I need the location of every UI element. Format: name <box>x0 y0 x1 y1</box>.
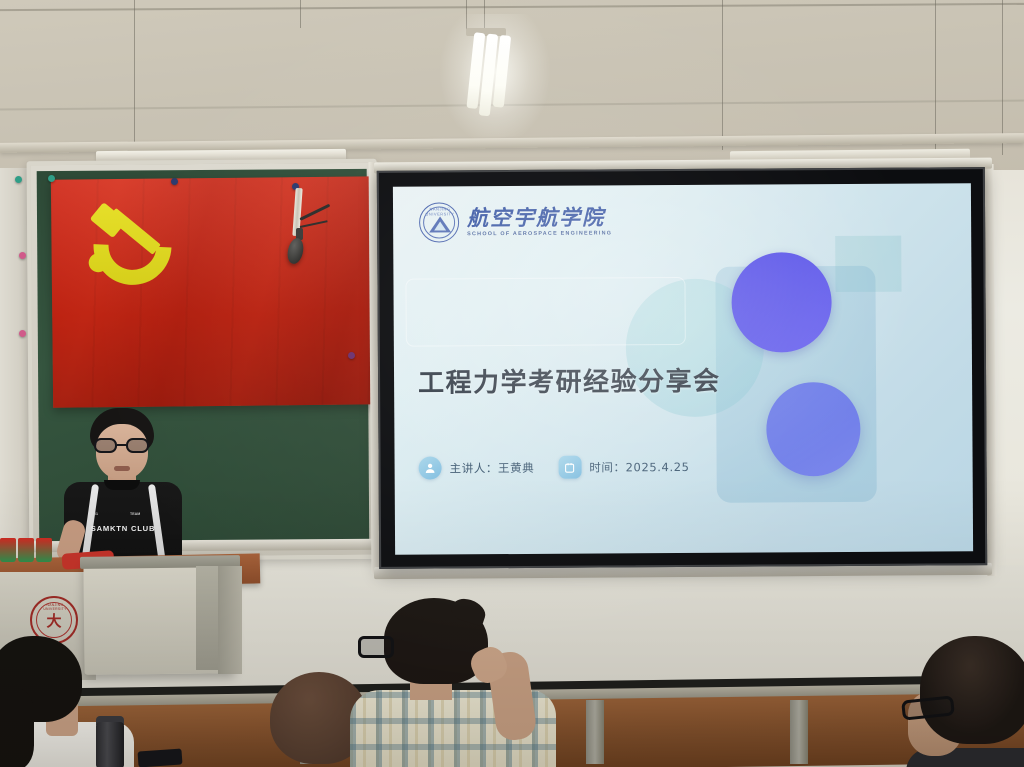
flag-magnet <box>19 252 26 259</box>
flag-magnet <box>19 330 26 337</box>
communist-party-flag <box>51 176 383 407</box>
eyeglasses-icon <box>358 636 394 658</box>
ceiling-wire <box>935 0 936 152</box>
hair-strand <box>0 688 34 767</box>
slide-meta-presenter: 主讲人：王黄典 <box>419 456 535 480</box>
presentation-slide[interactable]: NANJING UNIVERSITY 航空宇航学院 SCHOOL OF AERO… <box>393 183 973 555</box>
flag-magnet <box>171 178 178 185</box>
deco-circle-periwinkle <box>766 382 861 477</box>
flag-magnet <box>348 352 355 359</box>
bench-leg <box>586 700 604 764</box>
eyeglasses-icon <box>93 438 151 453</box>
smartphone-on-desk <box>137 748 182 767</box>
jersey-badge-right: TEAM <box>130 512 140 516</box>
projection-screen[interactable]: NANJING UNIVERSITY 航空宇航学院 SCHOOL OF AERO… <box>377 167 987 569</box>
flag-magnet <box>15 176 22 183</box>
presenter-at-podium: #1 TEAM SAMKTN CLUB <box>64 408 182 570</box>
thermos-bottle <box>96 722 124 767</box>
seal-arc-text: NANJING UNIVERSITY <box>425 206 455 216</box>
jersey-badge-left: #1 <box>94 512 98 516</box>
podium-side-panel <box>218 566 242 674</box>
logo-chinese-name: 航空宇航学院 <box>467 207 612 230</box>
emblem-arc-text: NANJING UNIVERSITY <box>38 603 72 611</box>
presenter-mouth <box>114 466 130 471</box>
hair <box>920 636 1024 744</box>
hammer-and-sickle-icon <box>87 204 184 291</box>
logo-english-name: SCHOOL OF AEROSPACE ENGINEERING <box>467 230 612 237</box>
ceiling-wire <box>134 0 135 160</box>
fluorescent-lamp-icon <box>464 32 514 118</box>
title-outline-box <box>405 277 685 347</box>
deco-circle-blue <box>731 252 832 353</box>
red-green-cups <box>0 538 60 564</box>
audience-center-plaid-shirt <box>340 598 570 767</box>
university-seal-icon: NANJING UNIVERSITY <box>419 202 459 242</box>
bench-leg <box>790 700 808 764</box>
slide-meta-date: 时间：2025.4.25 <box>558 455 689 479</box>
classroom-photo-scene: NANJING UNIVERSITY 航空宇航学院 SCHOOL OF AERO… <box>0 0 1024 767</box>
presenter-label: 主讲人：王黄典 <box>450 459 535 476</box>
date-label: 时间：2025.4.25 <box>589 458 689 475</box>
jersey-collar <box>104 480 140 490</box>
slide-title: 工程力学考研经验分享会 <box>418 361 721 400</box>
person-icon <box>419 456 442 479</box>
calendar-icon <box>558 456 581 479</box>
school-logo: NANJING UNIVERSITY 航空宇航学院 SCHOOL OF AERO… <box>419 201 612 242</box>
audience-right-glasses <box>906 636 1024 767</box>
ceiling-wire <box>300 0 301 28</box>
slide-meta-row: 主讲人：王黄典 时间：2025.4.25 <box>419 455 690 480</box>
ceiling-wire <box>1002 0 1003 155</box>
jersey-text: SAMKTN CLUB <box>90 524 156 533</box>
flag-magnet <box>48 175 55 182</box>
ceiling-wire <box>484 0 485 30</box>
ceiling-wire <box>722 0 723 150</box>
